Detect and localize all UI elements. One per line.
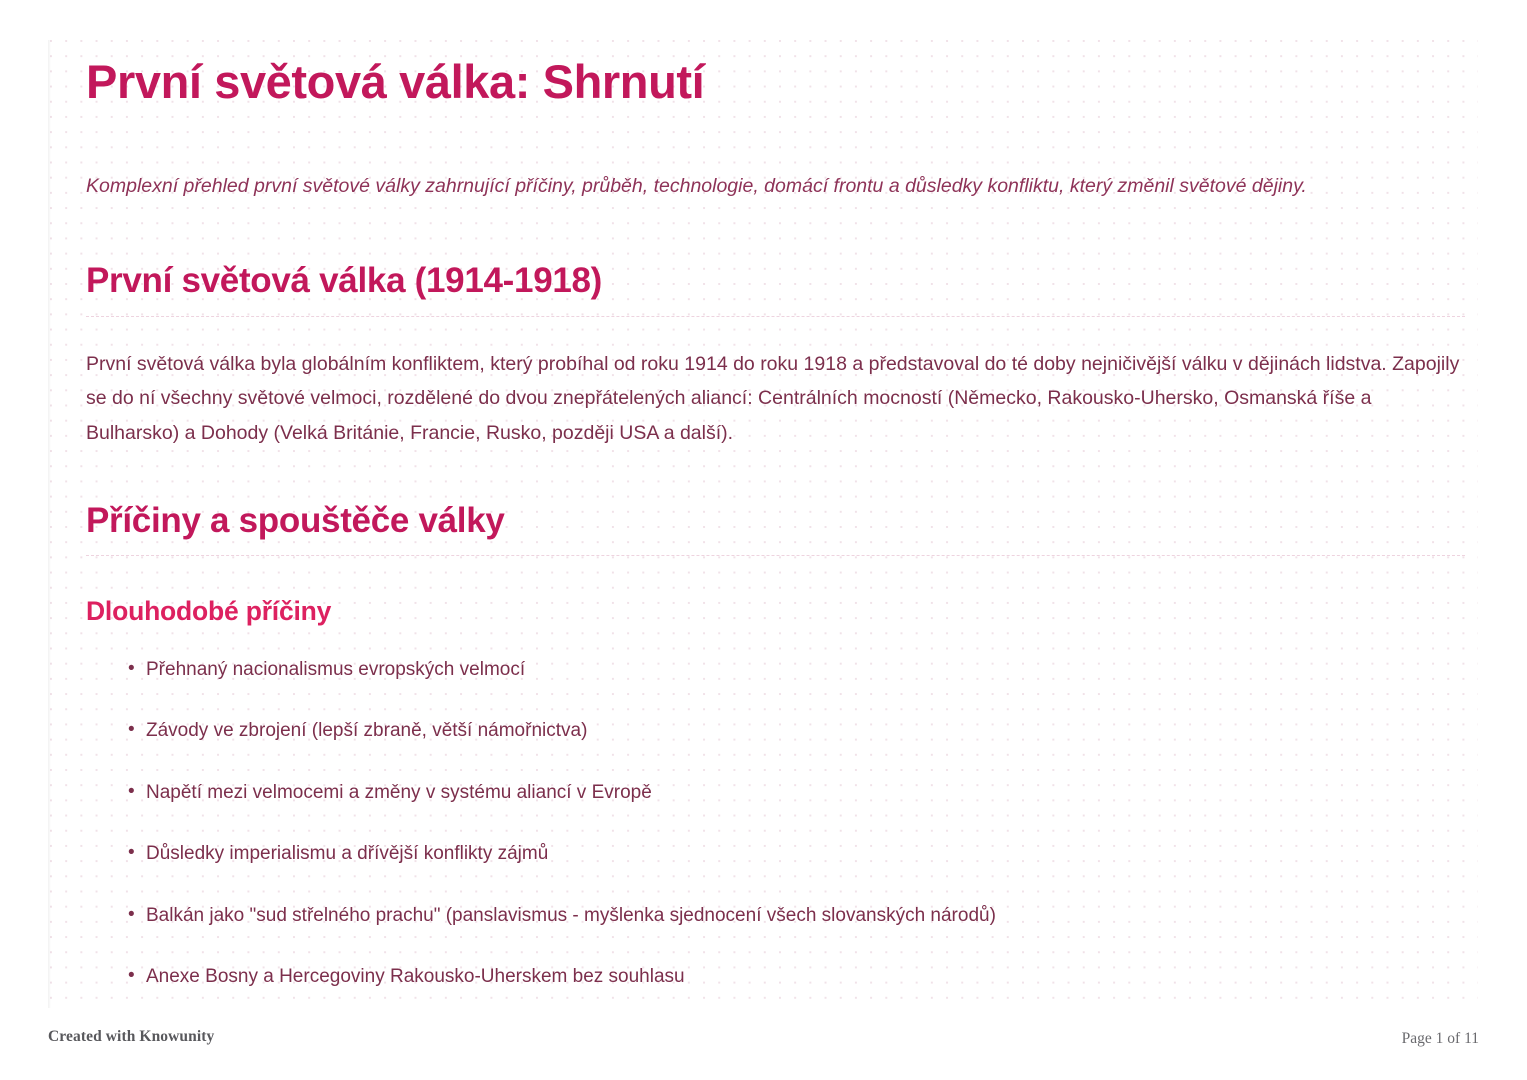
long-term-causes-list: Přehnaný nacionalismus evropských velmoc… bbox=[86, 656, 1466, 992]
list-item: Závody ve zbrojení (lepší zbraně, větší … bbox=[128, 717, 1466, 746]
page-title: První světová válka: Shrnutí bbox=[86, 56, 1466, 109]
subsection-heading-long-term-causes: Dlouhodobé příčiny bbox=[86, 596, 1466, 628]
spacer bbox=[86, 556, 1466, 596]
footer-page-number: Page 1 of 11 bbox=[1402, 1030, 1479, 1048]
spacer bbox=[86, 628, 1466, 656]
document-subtitle: Komplexní přehled první světové války za… bbox=[86, 169, 1386, 204]
section-causes-and-triggers: Příčiny a spouštěče války Dlouhodobé pří… bbox=[86, 501, 1466, 992]
section-world-war-one: První světová válka (1914-1918) První sv… bbox=[86, 261, 1466, 450]
section-heading-causes-and-triggers: Příčiny a spouštěče války bbox=[86, 501, 1465, 556]
spacer bbox=[86, 109, 1466, 169]
page-footer: Created with Knowunity Page 1 of 11 bbox=[0, 1014, 1527, 1080]
list-item: Napětí mezi velmocemi a změny v systému … bbox=[128, 779, 1466, 808]
footer-credit: Created with Knowunity bbox=[48, 1028, 214, 1046]
document-page: První světová válka: Shrnutí Komplexní p… bbox=[0, 0, 1527, 1080]
list-item: Balkán jako "sud střelného prachu" (pans… bbox=[128, 902, 1466, 931]
section-heading-world-war-one: První světová válka (1914-1918) bbox=[86, 261, 1465, 316]
spacer bbox=[86, 203, 1466, 261]
section-paragraph-world-war-one: První světová válka byla globálním konfl… bbox=[86, 347, 1466, 451]
document-content: První světová válka: Shrnutí Komplexní p… bbox=[86, 56, 1466, 992]
list-item: Důsledky imperialismu a dřívější konflik… bbox=[128, 840, 1466, 869]
spacer bbox=[86, 317, 1466, 347]
spacer bbox=[86, 451, 1466, 501]
list-item: Přehnaný nacionalismus evropských velmoc… bbox=[128, 656, 1466, 685]
page-left-gutter-edge bbox=[48, 40, 51, 1008]
list-item: Anexe Bosny a Hercegoviny Rakousko-Uhers… bbox=[128, 963, 1466, 992]
